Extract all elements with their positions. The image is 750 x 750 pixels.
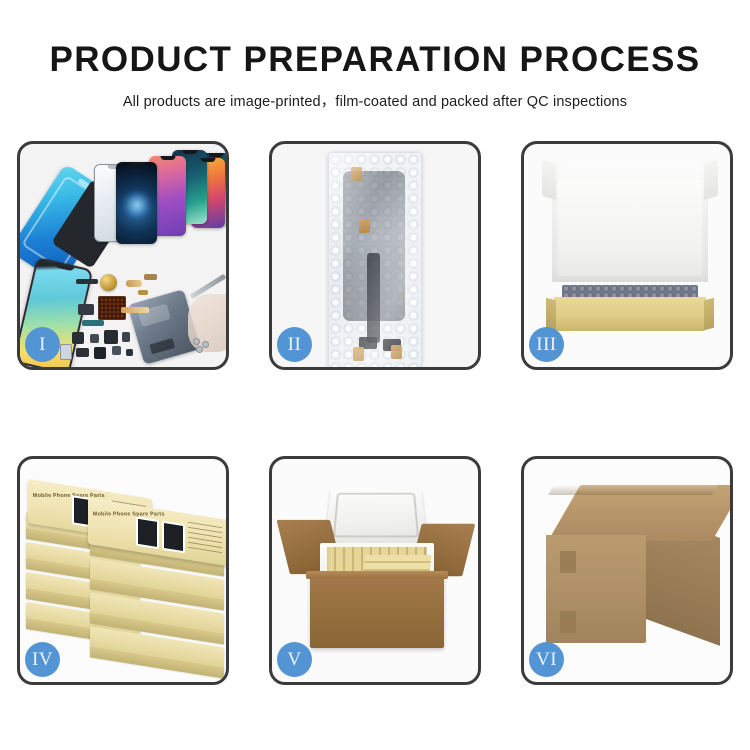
box-artwork-phone-icon: [162, 521, 185, 554]
bubble-wrap-bag-graphic: [328, 152, 422, 367]
page-subtitle: All products are image-printed，film-coat…: [0, 77, 750, 111]
part-gold-strip: [121, 307, 149, 313]
notch-icon: [201, 158, 216, 162]
part-button: [112, 346, 121, 355]
step-badge-4: IV: [25, 642, 60, 677]
part-gold-clip: [144, 274, 157, 280]
yellow-box-tray-graphic: [554, 297, 706, 331]
step-badge-2: II: [277, 327, 312, 362]
carton-seam: [548, 485, 718, 495]
notch-icon: [129, 162, 144, 166]
notch-icon: [208, 153, 223, 157]
part-flex-cable: [76, 279, 98, 284]
part-screw-plate: [126, 349, 133, 356]
part-chip: [72, 332, 84, 344]
step-panel-2[interactable]: II: [269, 141, 481, 370]
part-small-chip: [90, 334, 99, 343]
step-badge-5: V: [277, 642, 312, 677]
tape-graphic: [353, 347, 364, 361]
part-gold-pad: [138, 290, 148, 295]
part-vibrator: [94, 347, 106, 359]
packed-flex-cable-graphic: [367, 253, 380, 343]
part-connector-block: [76, 348, 89, 357]
part-teal-cable: [82, 320, 104, 326]
part-sim-tray: [60, 344, 72, 360]
step-panel-5[interactable]: V: [269, 456, 481, 685]
page-header: PRODUCT PREPARATION PROCESS All products…: [0, 0, 750, 111]
notch-icon: [160, 156, 175, 160]
notch-icon: [182, 150, 197, 154]
page-title: PRODUCT PREPARATION PROCESS: [0, 0, 750, 77]
part-camera-module: [104, 330, 118, 344]
part-module: [78, 304, 94, 315]
shipping-carton-graphic: [310, 576, 444, 648]
speaker-coil-graphic: [100, 274, 117, 291]
box-spec-lines: [188, 522, 222, 555]
carton-tape-patch: [560, 611, 576, 633]
tape-graphic: [351, 167, 362, 181]
step-badge-1: I: [25, 327, 60, 362]
box-label-text: Mobile Phone Spare Parts: [93, 512, 166, 518]
part-micro-chip: [122, 332, 130, 342]
step-panel-3[interactable]: III: [521, 141, 733, 370]
step-panel-4[interactable]: Mobile Phone Spare Parts Mobile Phone Sp…: [17, 456, 229, 685]
foam-lid-graphic: [325, 487, 428, 545]
foam-sheet-graphic: [558, 180, 702, 276]
phone-dark-graphic: [116, 162, 157, 244]
carton-tape-patch: [560, 551, 576, 573]
step-panel-6[interactable]: VI: [521, 456, 733, 685]
screws-graphic: [194, 339, 214, 351]
process-step-grid: I II III: [17, 141, 733, 685]
tape-graphic: [359, 219, 370, 233]
box-artwork-phone-icon: [136, 517, 159, 550]
step-panel-1[interactable]: I: [17, 141, 229, 370]
step-badge-6: VI: [529, 642, 564, 677]
part-gold-connector: [126, 280, 142, 287]
tape-graphic: [391, 345, 402, 359]
step-badge-3: III: [529, 327, 564, 362]
